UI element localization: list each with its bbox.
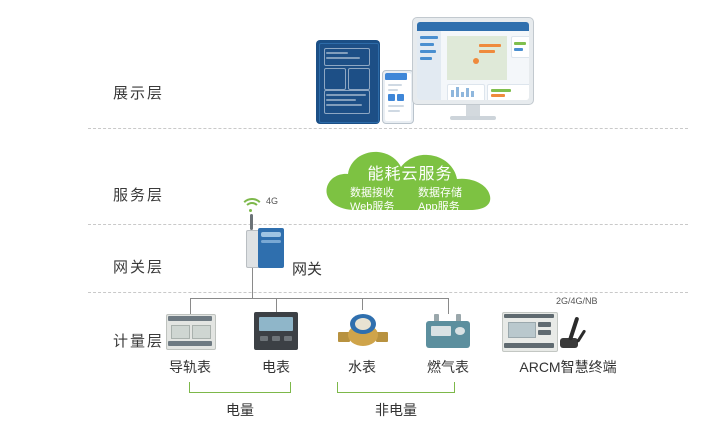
gateway-label: 网关: [292, 258, 322, 279]
monitor-bezel: [412, 17, 534, 105]
bracket-non-electricity-left: [337, 382, 338, 392]
divider-gateway-metering: [88, 292, 688, 293]
connector-branch-water: [362, 298, 363, 310]
gateway-indicator: [261, 232, 281, 237]
electric-meter-label: 电表: [246, 357, 306, 377]
layer-label-gateway: 网关层: [113, 256, 164, 277]
bracket-non-electricity-right: [454, 382, 455, 392]
desktop-monitor-device: [412, 17, 534, 122]
cloud-title: 能耗云服务: [318, 160, 502, 184]
electric-meter-device: [254, 312, 298, 350]
tablet-screen: [319, 43, 379, 123]
arcm-terminal-device: [502, 310, 592, 352]
monitor-screen: [417, 22, 529, 100]
arcm-terminal-label: ARCM智慧终端: [513, 357, 623, 377]
arcm-network-tag: 2G/4G/NB: [556, 296, 598, 306]
wifi-icon: [240, 198, 262, 212]
layer-label-metering: 计量层: [113, 330, 164, 351]
smartphone-device: [382, 70, 414, 124]
water-meter-label: 水表: [332, 357, 392, 377]
group-label-non-electricity: 非电量: [366, 400, 426, 420]
water-meter-device: [338, 310, 388, 350]
layer-label-display: 展示层: [113, 82, 164, 103]
gateway-antenna: [250, 214, 253, 230]
bracket-electricity: [189, 392, 291, 393]
bracket-non-electricity: [337, 392, 455, 393]
divider-display-service: [88, 128, 688, 129]
gas-meter-device: [424, 314, 472, 348]
divider-service-gateway: [88, 224, 688, 225]
diagram-canvas: 展示层 服务层 网关层 计量层: [0, 0, 715, 443]
rail-meter-device: [166, 314, 214, 348]
connector-bus: [190, 298, 448, 299]
group-label-electricity: 电量: [210, 400, 270, 420]
gateway-stripe: [261, 240, 281, 243]
smartphone-screen: [385, 73, 411, 121]
bracket-electricity-right: [290, 382, 291, 392]
rail-meter-label: 导轨表: [160, 357, 220, 377]
gateway-network-tag: 4G: [266, 196, 278, 206]
connector-branch-rail: [190, 298, 191, 314]
connector-gateway-down: [252, 268, 253, 298]
tablet-device: [316, 40, 380, 124]
cloud-item-web-service: Web服务: [350, 198, 394, 214]
layer-label-service: 服务层: [113, 184, 164, 205]
cloud-service: 能耗云服务 数据接收 数据存储 Web服务 App服务: [318, 148, 502, 214]
gas-meter-label: 燃气表: [418, 357, 478, 377]
connector-branch-gas: [448, 298, 449, 314]
bracket-electricity-left: [189, 382, 190, 392]
cloud-item-app-service: App服务: [418, 198, 460, 214]
